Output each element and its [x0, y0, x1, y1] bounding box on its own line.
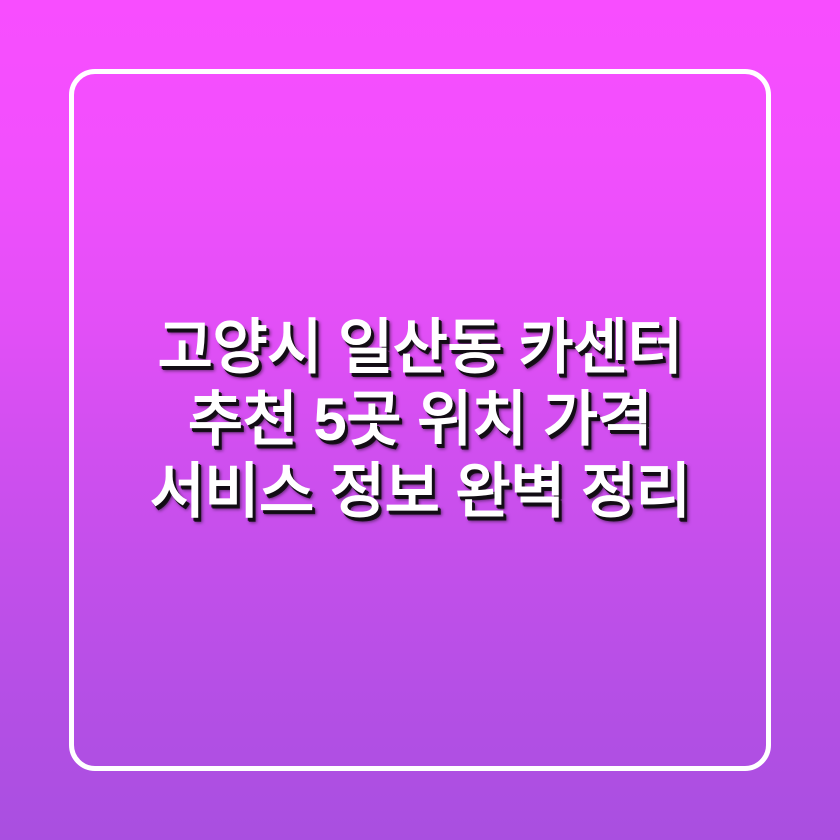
title-line-1: 고양시 일산동 카센터	[84, 312, 756, 384]
title-line-2: 추천 5곳 위치 가격	[84, 384, 756, 456]
title-block: 고양시 일산동 카센터 추천 5곳 위치 가격 서비스 정보 완벽 정리	[0, 0, 840, 840]
thumbnail-card: 고양시 일산동 카센터 추천 5곳 위치 가격 서비스 정보 완벽 정리	[0, 0, 840, 840]
title-line-3: 서비스 정보 완벽 정리	[84, 456, 756, 528]
